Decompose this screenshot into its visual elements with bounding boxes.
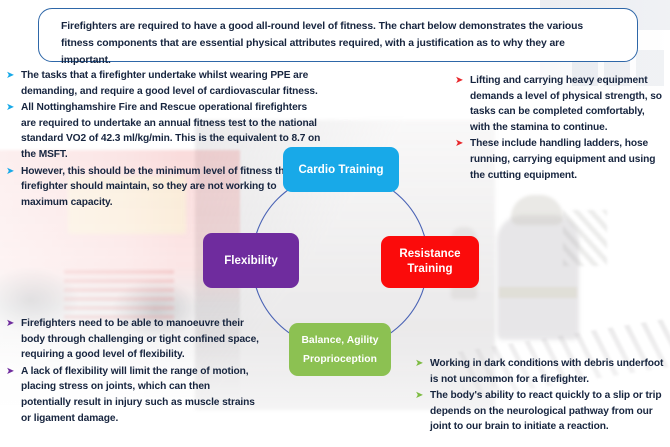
list-item: ➤ Lifting and carrying heavy equipment d… — [455, 73, 665, 135]
header-callout-box: Firefighters are required to have a good… — [38, 8, 638, 62]
bullet-arrow-icon: ➤ — [455, 73, 470, 89]
node-resistance-training[interactable]: Resistance Training — [381, 236, 479, 288]
slide-canvas: Firefighters are required to have a good… — [0, 0, 670, 447]
header-text: Firefighters are required to have a good… — [61, 18, 615, 69]
list-item: ➤ The tasks that a firefighter undertake… — [6, 68, 324, 99]
background-truck-grille — [64, 270, 174, 322]
background-firefighter-backpack — [563, 210, 607, 266]
fitness-cycle-diagram: Cardio Training Resistance Training Bala… — [180, 130, 500, 392]
background-firefighter-body — [497, 215, 579, 340]
bullet-arrow-icon: ➤ — [6, 316, 21, 332]
node-cardio-training[interactable]: Cardio Training — [283, 147, 399, 192]
node-balance-agility-proprioception-label: Balance, Agility Proprioception — [289, 331, 391, 369]
node-flexibility-label: Flexibility — [224, 255, 278, 267]
list-item: ➤ The body's ability to react quickly to… — [415, 388, 665, 435]
bullet-text: Lifting and carrying heavy equipment dem… — [470, 73, 665, 135]
bullet-arrow-icon: ➤ — [6, 100, 21, 116]
bullet-text: The tasks that a firefighter undertake w… — [21, 68, 324, 99]
node-cardio-training-label: Cardio Training — [298, 164, 383, 176]
node-resistance-training-label: Resistance Training — [381, 247, 479, 277]
bullet-arrow-icon: ➤ — [6, 68, 21, 84]
bullet-arrow-icon: ➤ — [6, 364, 21, 380]
background-firefighter-helmet — [511, 195, 563, 225]
background-firefighter-hi-vis-stripe — [499, 287, 577, 298]
node-flexibility[interactable]: Flexibility — [203, 233, 299, 288]
node-balance-agility-proprioception[interactable]: Balance, Agility Proprioception — [289, 323, 391, 376]
bullet-text: The body's ability to react quickly to a… — [430, 388, 665, 435]
bullet-arrow-icon: ➤ — [6, 164, 21, 180]
